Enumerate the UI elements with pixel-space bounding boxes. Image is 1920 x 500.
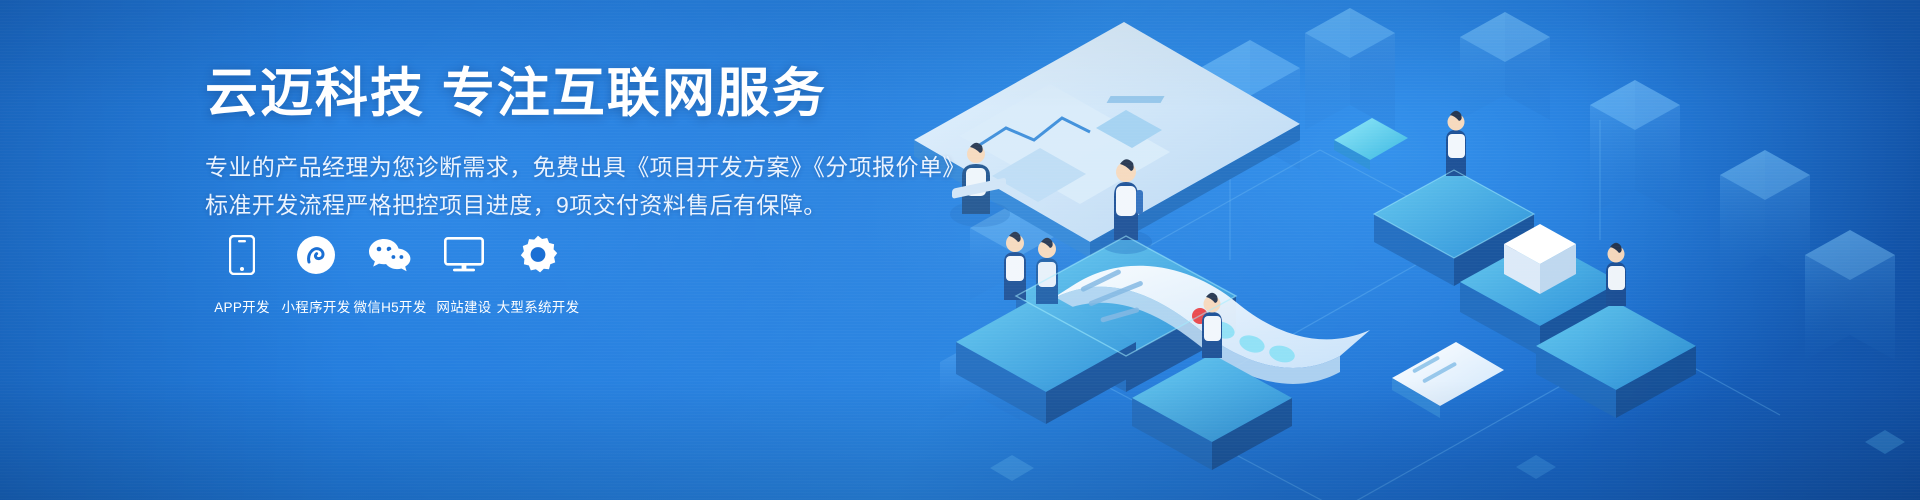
person-on-center-platform bbox=[1100, 159, 1152, 254]
platform-bottom-center bbox=[1132, 354, 1292, 470]
service-item-large-system[interactable]: 大型系统开发 bbox=[501, 232, 575, 316]
person-bottom-center bbox=[1202, 293, 1222, 358]
service-label-website: 网站建设 bbox=[436, 296, 491, 316]
iso-grid-lines bbox=[1000, 120, 1780, 500]
service-label-app: APP开发 bbox=[214, 296, 270, 316]
platform-right-cube bbox=[1460, 224, 1620, 356]
banner-copy: 云迈科技 专注互联网服务 专业的产品经理为您诊断需求，免费出具《项目开发方案》《… bbox=[205, 64, 965, 224]
platform-right-lower bbox=[1536, 302, 1696, 418]
person-right-upper bbox=[1446, 111, 1466, 176]
monitor-icon bbox=[442, 232, 486, 278]
service-label-large-system: 大型系统开发 bbox=[497, 296, 580, 316]
platform-center-tall bbox=[1016, 236, 1236, 392]
service-label-mini-program: 小程序开发 bbox=[282, 296, 351, 316]
service-icon-row: APP开发 小程序开发 微信 bbox=[205, 232, 575, 316]
service-item-mini-program[interactable]: 小程序开发 bbox=[279, 232, 353, 316]
platform-left-bottom bbox=[956, 292, 1136, 424]
service-label-wechat-h5: 微信H5开发 bbox=[353, 296, 426, 316]
person-right-lower bbox=[1606, 243, 1626, 306]
person-pair-left-bottom bbox=[1004, 232, 1058, 304]
isometric-illustration bbox=[900, 0, 1920, 500]
mini-program-icon bbox=[294, 232, 338, 278]
service-item-website[interactable]: 网站建设 bbox=[427, 232, 501, 316]
platform-right-upper bbox=[1374, 170, 1534, 286]
background-city-bars bbox=[940, 8, 1905, 481]
dashboard-screen bbox=[914, 22, 1300, 258]
promo-banner: 云迈科技 专注互联网服务 专业的产品经理为您诊断需求，免费出具《项目开发方案》《… bbox=[0, 0, 1920, 500]
mobile-phone-icon bbox=[220, 232, 264, 278]
glow-accents bbox=[1016, 170, 1534, 356]
banner-subtitle-line-1: 专业的产品经理为您诊断需求，免费出具《项目开发方案》《分项报价单》 bbox=[205, 149, 965, 186]
banner-subtitle: 专业的产品经理为您诊断需求，免费出具《项目开发方案》《分项报价单》 标准开发流程… bbox=[205, 149, 965, 224]
data-card-ribbon bbox=[1050, 266, 1370, 384]
banner-subtitle-line-2: 标准开发流程严格把控项目进度，9项交付资料售后有保障。 bbox=[205, 187, 965, 224]
wechat-chat-icon bbox=[368, 232, 412, 278]
floating-monitor-upper-right bbox=[1334, 118, 1408, 170]
gear-icon bbox=[516, 232, 560, 278]
service-item-app[interactable]: APP开发 bbox=[205, 232, 279, 316]
floating-device-right bbox=[1392, 342, 1504, 418]
banner-headline: 云迈科技 专注互联网服务 bbox=[205, 64, 965, 123]
service-item-wechat-h5[interactable]: 微信H5开发 bbox=[353, 232, 427, 316]
